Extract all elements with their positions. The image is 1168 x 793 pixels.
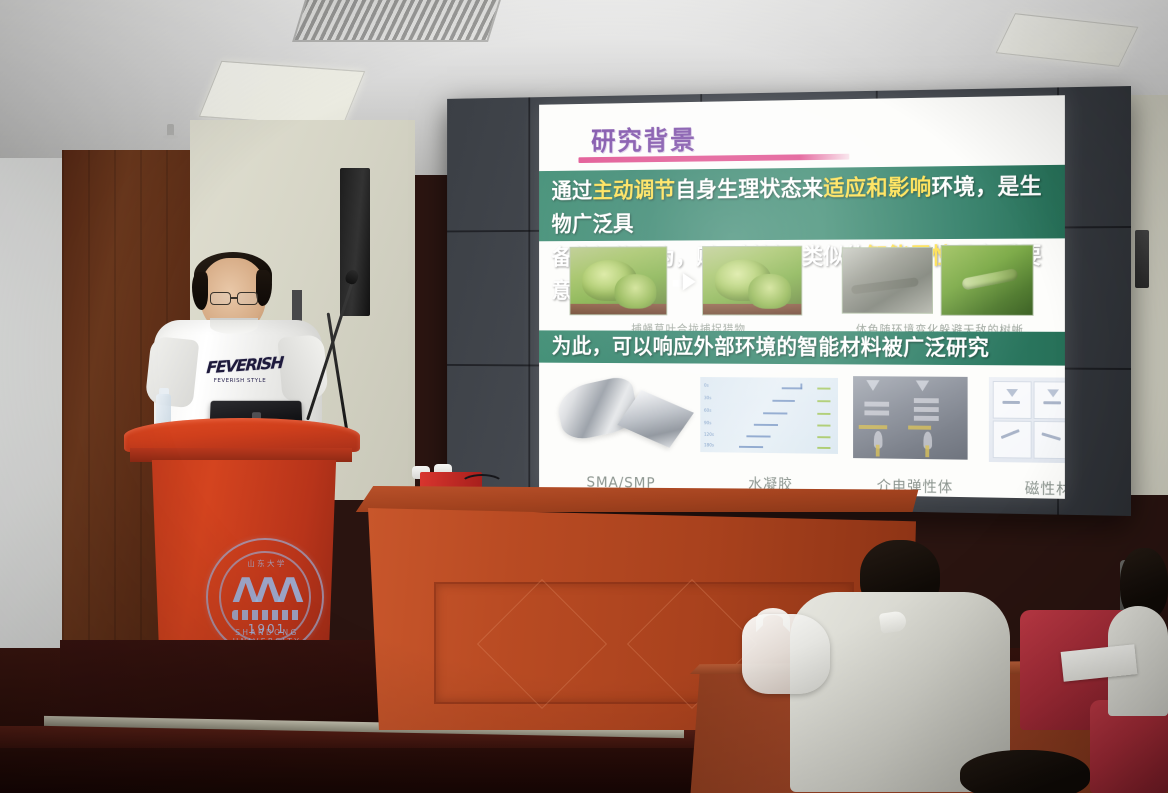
presenter-sleeve-left [145, 336, 200, 409]
photo-venus-flytrap-closed [702, 246, 802, 316]
material-cell-dielectric: 介电弹性体 [844, 374, 987, 497]
banner-line-1: 通过主动调节自身生理状态来适应和影响环境，是生物广泛具 [552, 170, 1052, 242]
photo-venus-flytrap-open [570, 246, 668, 315]
presentation-slide: 研究背景 通过主动调节自身生理状态来适应和影响环境，是生物广泛具 备的智能行为，… [539, 95, 1065, 499]
banner-text-highlighted: 主动调节 [593, 178, 676, 204]
hydrogel-time-label: 0s [704, 384, 709, 389]
podium-lip [130, 448, 352, 462]
desk-items-group [398, 464, 508, 490]
air-conditioning-vent-icon [292, 0, 504, 42]
material-label-magnetic: 磁性材料 [983, 477, 1065, 499]
transition-arrow-icon [673, 280, 683, 287]
emblem-mountain-icon: ΛΛΛ [228, 574, 304, 612]
presenter-hair-side-left [192, 272, 208, 310]
desk-top-surface [350, 486, 930, 512]
tshirt-subtext: FEVERISH STYLE [210, 378, 270, 384]
video-wall-seam [528, 97, 530, 504]
ceiling-light-panel [199, 61, 365, 127]
material-cell-hydrogel: 0s 30s 60s 90s 120s 180s [695, 373, 848, 495]
hydrogel-time-label: 120s [704, 433, 714, 438]
stage-lower-floor [0, 748, 720, 793]
flowerpot [570, 304, 666, 315]
presenter: FEVERISH FEVERISH STYLE [148, 252, 338, 432]
banner-text-plain: 自身生理状态来 [675, 176, 823, 203]
photo-lizard-on-leaf [941, 244, 1034, 315]
sprinkler-head-icon [167, 124, 174, 138]
slide-banner-sub: 为此，可以响应外部环境的智能材料被广泛研究 [539, 330, 1065, 365]
audience-head-front [960, 750, 1090, 793]
photo-lizard-on-rock [842, 247, 933, 314]
material-cell-magnetic: 磁性材料 [983, 375, 1065, 499]
flowerpot [703, 304, 801, 315]
desk-diamond-left [477, 579, 607, 709]
glasses-lens-right [237, 292, 258, 305]
hydrogel-time-label: 60s [704, 409, 711, 414]
emblem-wave-icon [232, 610, 302, 620]
bio-examples-row: 捕蝇草叶合拢捕捉猎物 体色随环境变化躲避天敌的树蜥 [539, 244, 1065, 324]
slide-title: 研究背景 [591, 119, 697, 158]
materials-row: SMA/SMP 0s 30s 60s 90s 120s 180s [539, 372, 1065, 499]
glasses-icon [210, 292, 264, 306]
emblem-name-chinese: 山东大学 [208, 558, 326, 569]
wall-speaker [340, 168, 370, 316]
hydrogel-time-label: 30s [704, 396, 711, 401]
slide-banner-main: 通过主动调节自身生理状态来适应和影响环境，是生物广泛具 备的智能行为，赋予材料以… [539, 165, 1065, 241]
transition-arrow-icon [683, 273, 696, 290]
wall-left-white [0, 158, 68, 678]
magnetic-material-array [989, 377, 1065, 464]
banner-text-plain: 通过 [552, 179, 593, 204]
plastic-bag [742, 614, 830, 694]
wall-panel-switch [1135, 230, 1149, 288]
hydrogel-time-label: 180s [704, 443, 714, 448]
hydrogel-time-label: 90s [704, 421, 711, 426]
material-cell-sma: SMA/SMP [544, 372, 698, 492]
dielectric-elastomer-schematic [853, 376, 968, 460]
university-emblem: 山东大学 ΛΛΛ 1901 SHANDONG UNIVERSITY [206, 538, 324, 656]
hydrogel-chart: 0s 30s 60s 90s 120s 180s [700, 377, 838, 454]
banner-text-highlighted: 适应和影响 [823, 175, 931, 202]
video-wall: 研究背景 通过主动调节自身生理状态来适应和影响环境，是生物广泛具 备的智能行为，… [447, 86, 1131, 516]
presenter-collar [210, 318, 258, 334]
glasses-lens-left [210, 292, 231, 305]
podium-top-surface [124, 418, 360, 452]
presenter-sleeve-right [277, 334, 328, 402]
presentation-photo: 研究背景 通过主动调节自身生理状态来适应和影响环境，是生物广泛具 备的智能行为，… [0, 0, 1168, 793]
